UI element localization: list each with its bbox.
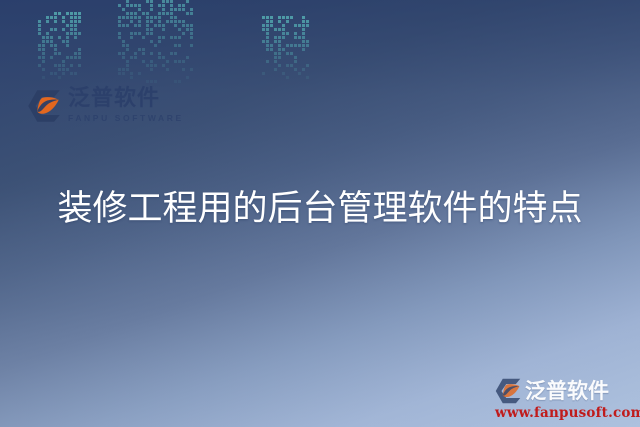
page-title: 装修工程用的后台管理软件的特点: [0, 186, 640, 232]
brand-logo: 泛普软件 FANPU SOFTWARE: [26, 87, 184, 124]
watermark-brand-name: 泛普软件: [525, 379, 609, 403]
skyline-building: [262, 16, 310, 84]
brand-name-cn: 泛普软件: [68, 87, 184, 111]
fanpu-hexagon-logo-icon: [26, 88, 62, 124]
watermark-url: www.fanpusoft.com: [494, 405, 634, 421]
fanpu-hexagon-logo-icon: [494, 377, 522, 405]
brand-name-en: FANPU SOFTWARE: [68, 112, 184, 124]
watermark: 泛普软件 www.fanpusoft.com: [494, 377, 634, 421]
pixel-city-skyline-decoration: [38, 0, 150, 84]
watermark-logo-row: 泛普软件: [494, 377, 634, 405]
skyline-building: [38, 12, 82, 84]
skyline-building: [118, 0, 194, 84]
brand-logo-text: 泛普软件 FANPU SOFTWARE: [68, 87, 184, 124]
banner-canvas: 泛普软件 FANPU SOFTWARE 装修工程用的后台管理软件的特点 泛普软件…: [0, 0, 640, 427]
